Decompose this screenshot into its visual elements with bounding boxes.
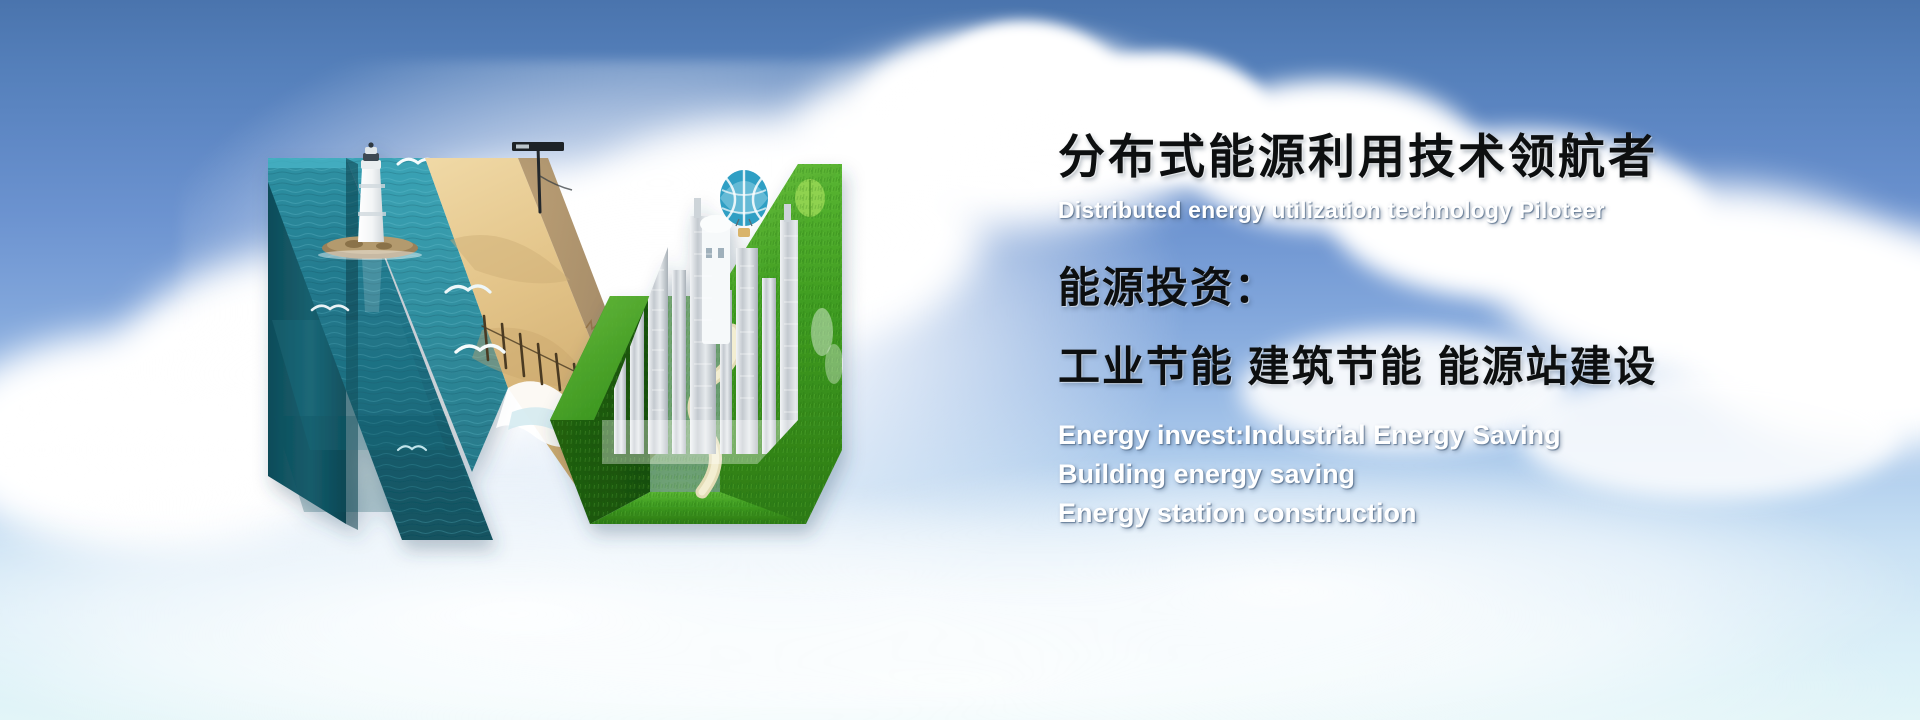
section-label-chinese: 能源投资： xyxy=(1058,254,1888,315)
headline-copy-block: 分布式能源利用技术领航者 Distributed energy utilizat… xyxy=(1058,132,1888,533)
services-english-line-2: Building energy saving xyxy=(1058,455,1888,494)
services-chinese: 工业节能 建筑节能 能源站建设 xyxy=(1058,333,1888,394)
w-right-stroke-grass xyxy=(550,164,850,524)
headline-english-subtitle: Distributed energy utilization technolog… xyxy=(1058,197,1888,224)
services-english-list: Energy invest:Industrial Energy Saving B… xyxy=(1058,416,1888,533)
leaf-icon xyxy=(795,179,825,217)
headline-chinese: 分布式能源利用技术领航者 xyxy=(1058,132,1888,183)
services-english-line-3: Energy station construction xyxy=(1058,494,1888,533)
services-english-line-1: Energy invest:Industrial Energy Saving xyxy=(1058,416,1888,455)
hero-banner: 分布式能源利用技术领航者 Distributed energy utilizat… xyxy=(0,0,1920,720)
w-letter-artwork xyxy=(250,120,950,540)
dome-tower-icon xyxy=(700,215,732,344)
